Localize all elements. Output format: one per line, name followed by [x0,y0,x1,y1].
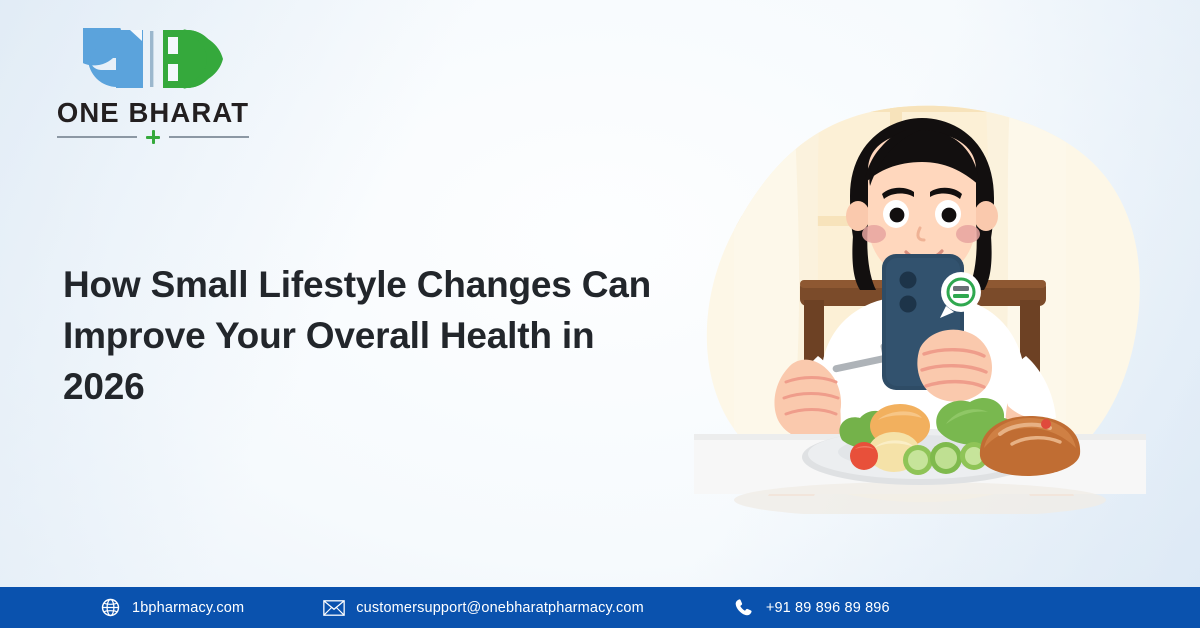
footer-phone[interactable]: +91 89 896 89 896 [733,587,890,628]
logo-mark-icon [83,28,243,90]
brand-logo[interactable]: ONE BHARAT [57,28,297,144]
footer-phone-label: +91 89 896 89 896 [766,600,890,616]
envelope-icon [323,597,345,619]
globe-icon [99,597,121,619]
page-title: How Small Lifestyle Changes Can Improve … [63,259,683,412]
brand-divider-plus-icon [57,130,249,144]
footer-email-label: customersupport@onebharatpharmacy.com [356,600,644,616]
phone-hand [917,330,992,402]
hero-illustration [694,104,1146,514]
brand-name: ONE BHARAT [53,97,253,129]
contact-footer: 1bpharmacy.com customersupport@onebharat… [0,587,1200,628]
footer-email[interactable]: customersupport@onebharatpharmacy.com [323,587,644,628]
blog-banner: ONE BHARAT How Small Lifestyle Changes C… [0,0,1200,628]
phone-icon [733,597,755,619]
footer-website-label: 1bpharmacy.com [132,600,244,616]
footer-website[interactable]: 1bpharmacy.com [99,587,244,628]
